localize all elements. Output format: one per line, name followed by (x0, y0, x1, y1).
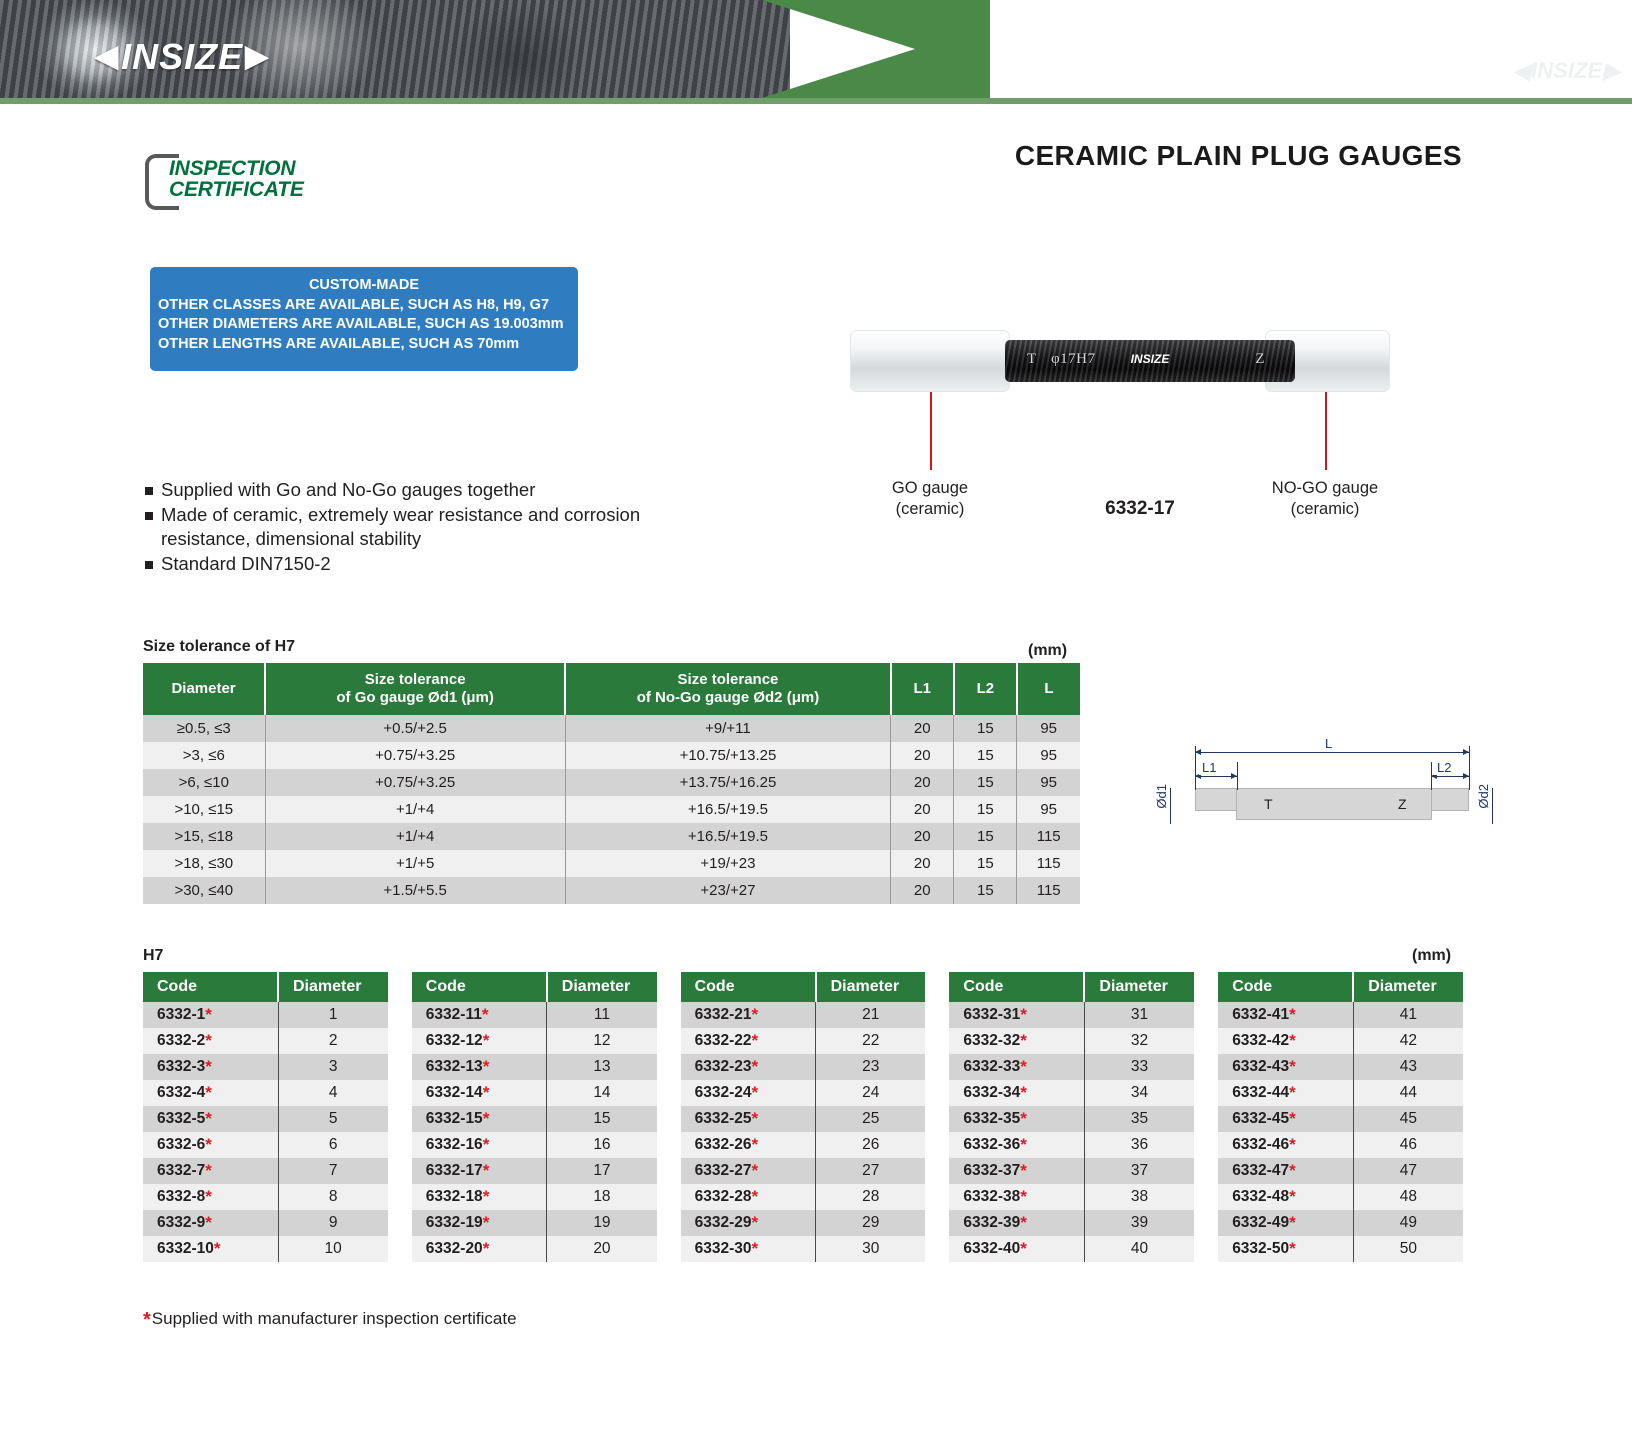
cell-l1: 20 (891, 850, 954, 877)
certificate-star-icon: * (1289, 1187, 1296, 1206)
go-gauge-callout-line1: GO gauge (830, 478, 1030, 499)
cell-code: 6332-46* (1218, 1132, 1353, 1158)
table-row: 6332-18*18 (412, 1184, 657, 1210)
cell-diameter: 38 (1084, 1184, 1194, 1210)
code-text: 6332-39 (963, 1214, 1020, 1231)
table-row: 6332-19*19 (412, 1210, 657, 1236)
certificate-star-icon: * (1020, 1213, 1027, 1232)
certificate-line2: CERTIFICATE (169, 179, 304, 200)
table-row: 6332-29*29 (681, 1210, 926, 1236)
table-row: 6332-16*16 (412, 1132, 657, 1158)
footnote: *Supplied with manufacturer inspection c… (143, 1309, 517, 1329)
cell-diameter: >18, ≤30 (143, 850, 265, 877)
cell-code: 6332-32* (949, 1028, 1084, 1054)
cell-go: +0.75/+3.25 (265, 769, 565, 796)
table-row: 6332-13*13 (412, 1054, 657, 1080)
col-go-line2: of Go gauge Ød1 (μm) (336, 689, 494, 706)
col-code: Code (949, 972, 1084, 1002)
table-row: 6332-40*40 (949, 1236, 1194, 1262)
table-header-row: Code Diameter (143, 972, 388, 1002)
code-table-4: Code Diameter 6332-31*31 6332-32*32 6332… (949, 972, 1194, 1262)
col-nogo-line2: of No-Go gauge Ød2 (μm) (637, 689, 820, 706)
table-row: 6332-28*28 (681, 1184, 926, 1210)
cell-code: 6332-9* (143, 1210, 278, 1236)
cell-nogo: +16.5/+19.5 (565, 796, 891, 823)
code-text: 6332-50 (1232, 1240, 1289, 1257)
cell-l2: 15 (954, 769, 1017, 796)
watermark-wordmark: INSIZE (1531, 58, 1602, 84)
certificate-star-icon: * (751, 1135, 758, 1154)
cell-code: 6332-26* (681, 1132, 816, 1158)
cell-code: 6332-42* (1218, 1028, 1353, 1054)
certificate-star-icon: * (1289, 1213, 1296, 1232)
table-row: 6332-17*17 (412, 1158, 657, 1184)
cell-nogo: +10.75/+13.25 (565, 742, 891, 769)
code-table-unit: (mm) (1412, 947, 1451, 965)
cell-l2: 15 (954, 877, 1017, 904)
cell-code: 6332-40* (949, 1236, 1084, 1262)
cell-code: 6332-49* (1218, 1210, 1353, 1236)
cell-diameter: 14 (547, 1080, 657, 1106)
feature-text: Supplied with Go and No-Go gauges togeth… (161, 478, 665, 503)
code-text: 6332-37 (963, 1162, 1020, 1179)
code-text: 6332-11 (426, 1006, 482, 1023)
cell-l: 95 (1017, 769, 1080, 796)
cell-code: 6332-30* (681, 1236, 816, 1262)
cell-diameter: 4 (278, 1080, 388, 1106)
custom-made-callout: CUSTOM-MADE OTHER CLASSES ARE AVAILABLE,… (150, 267, 578, 371)
code-text: 6332-30 (695, 1240, 752, 1257)
cell-diameter: 23 (816, 1054, 926, 1080)
table-header-row: Code Diameter (1218, 972, 1463, 1002)
dim-arrow-l (1195, 752, 1469, 753)
table-row: 6332-11*11 (412, 1002, 657, 1028)
cell-l1: 20 (891, 823, 954, 850)
code-table-2: Code Diameter 6332-11*11 6332-12*12 6332… (412, 972, 657, 1262)
certificate-star-icon: * (483, 1109, 490, 1128)
cell-diameter: 44 (1353, 1080, 1463, 1106)
header-green-rule (0, 98, 1632, 104)
col-diameter: Diameter (816, 972, 926, 1002)
list-item: Made of ceramic, extremely wear resistan… (145, 503, 665, 552)
code-text: 6332-10 (157, 1240, 214, 1257)
certificate-star-icon: * (1020, 1109, 1027, 1128)
cell-l1: 20 (891, 877, 954, 904)
cell-nogo: +13.75/+16.25 (565, 769, 891, 796)
cell-go: +0.5/+2.5 (265, 715, 565, 742)
code-text: 6332-18 (426, 1188, 483, 1205)
ext-line-d1 (1170, 788, 1171, 824)
certificate-star-icon: * (1289, 1239, 1296, 1258)
cell-code: 6332-44* (1218, 1080, 1353, 1106)
certificate-star-icon: * (205, 1187, 212, 1206)
code-text: 6332-33 (963, 1058, 1020, 1075)
dim-arrow-l2 (1431, 776, 1469, 777)
cell-diameter: 3 (278, 1054, 388, 1080)
code-text: 6332-22 (695, 1032, 752, 1049)
tolerance-table-unit: (mm) (1028, 642, 1067, 660)
cell-diameter: 16 (547, 1132, 657, 1158)
cell-code: 6332-27* (681, 1158, 816, 1184)
cell-diameter: 29 (816, 1210, 926, 1236)
cell-diameter: 26 (816, 1132, 926, 1158)
table-row: 6332-8*8 (143, 1184, 388, 1210)
col-go-line1: Size tolerance (365, 671, 466, 688)
ext-line-l1-right (1237, 762, 1238, 790)
cell-code: 6332-48* (1218, 1184, 1353, 1210)
code-text: 6332-12 (426, 1032, 483, 1049)
table-row: 6332-1*1 (143, 1002, 388, 1028)
go-gauge-callout: GO gauge (ceramic) (830, 478, 1030, 520)
code-text: 6332-8 (157, 1188, 205, 1205)
table-row: 6332-50*50 (1218, 1236, 1463, 1262)
cell-go: +1.5/+5.5 (265, 877, 565, 904)
dimension-diagram: T Z L L1 L2 Ød1 Ød2 (1140, 700, 1560, 830)
cell-diameter: 41 (1353, 1002, 1463, 1028)
certificate-star-icon: * (1289, 1031, 1296, 1050)
cell-diameter: 18 (547, 1184, 657, 1210)
cell-l2: 15 (954, 850, 1017, 877)
code-text: 6332-13 (426, 1058, 483, 1075)
cell-diameter: 1 (278, 1002, 388, 1028)
table-row: 6332-7*7 (143, 1158, 388, 1184)
inspection-certificate-badge: INSPECTION CERTIFICATE (145, 152, 405, 212)
code-text: 6332-36 (963, 1136, 1020, 1153)
table-row: 6332-38*38 (949, 1184, 1194, 1210)
cell-code: 6332-11* (412, 1002, 547, 1028)
gauge-marking-z: Z (1255, 351, 1265, 368)
page-title: CERAMIC PLAIN PLUG GAUGES (1015, 140, 1462, 172)
code-text: 6332-19 (426, 1214, 483, 1231)
code-text: 6332-2 (157, 1032, 205, 1049)
feature-text: Made of ceramic, extremely wear resistan… (161, 503, 665, 552)
table-row: 6332-46*46 (1218, 1132, 1463, 1158)
cell-diameter: 12 (547, 1028, 657, 1054)
certificate-star-icon: * (1289, 1005, 1296, 1024)
cell-go: +1/+4 (265, 796, 565, 823)
cell-diameter: 19 (547, 1210, 657, 1236)
footnote-text: Supplied with manufacturer inspection ce… (152, 1309, 517, 1328)
insize-watermark: ◀INSIZE▶ (1513, 58, 1620, 84)
square-bullet-icon (145, 478, 161, 495)
diagram-go-end (1195, 788, 1237, 811)
certificate-star-icon: * (1289, 1135, 1296, 1154)
code-text: 6332-47 (1232, 1162, 1289, 1179)
cell-l1: 20 (891, 796, 954, 823)
code-text: 6332-6 (157, 1136, 205, 1153)
table-row: 6332-49*49 (1218, 1210, 1463, 1236)
certificate-star-icon: * (205, 1057, 212, 1076)
table-row: 6332-32*32 (949, 1028, 1194, 1054)
certificate-star-icon: * (1020, 1031, 1027, 1050)
certificate-star-icon: * (205, 1083, 212, 1102)
table-row: 6332-27*27 (681, 1158, 926, 1184)
ext-line-right (1469, 746, 1470, 790)
logo-arrow-left-icon: ◀ (95, 42, 119, 72)
cell-diameter: 45 (1353, 1106, 1463, 1132)
diagram-label-z: Z (1398, 796, 1407, 812)
code-text: 6332-34 (963, 1084, 1020, 1101)
code-text: 6332-23 (695, 1058, 752, 1075)
cell-diameter: 5 (278, 1106, 388, 1132)
col-l: L (1017, 663, 1080, 715)
table-row: 6332-12*12 (412, 1028, 657, 1054)
certificate-star-icon: * (483, 1031, 490, 1050)
tolerance-table-body: ≥0.5, ≤3+0.5/+2.5+9/+11201595 >3, ≤6+0.7… (143, 715, 1080, 904)
table-row: 6332-25*25 (681, 1106, 926, 1132)
cell-code: 6332-22* (681, 1028, 816, 1054)
cell-diameter: >15, ≤18 (143, 823, 265, 850)
code-table-1: Code Diameter 6332-1*1 6332-2*2 6332-3*3… (143, 972, 388, 1262)
certificate-star-icon: * (1289, 1057, 1296, 1076)
certificate-label: INSPECTION CERTIFICATE (169, 158, 304, 200)
cell-nogo: +23/+27 (565, 877, 891, 904)
cell-diameter: >3, ≤6 (143, 742, 265, 769)
certificate-star-icon: * (205, 1005, 212, 1024)
certificate-star-icon: * (482, 1005, 489, 1024)
certificate-star-icon: * (751, 1057, 758, 1076)
certificate-star-icon: * (1020, 1187, 1027, 1206)
cell-code: 6332-2* (143, 1028, 278, 1054)
cell-code: 6332-28* (681, 1184, 816, 1210)
table-header-row: Diameter Size tolerance of Go gauge Ød1 … (143, 663, 1080, 715)
col-code: Code (412, 972, 547, 1002)
cell-diameter: 20 (547, 1236, 657, 1262)
gauge-marking-diameter: φ17H7 (1051, 351, 1096, 368)
code-text: 6332-28 (695, 1188, 752, 1205)
code-text: 6332-40 (963, 1240, 1020, 1257)
cell-diameter: 50 (1353, 1236, 1463, 1262)
certificate-star-icon: * (483, 1187, 490, 1206)
certificate-star-icon: * (483, 1161, 490, 1180)
gauge-handle: T φ17H7 INSIZE Z (1005, 340, 1295, 382)
certificate-star-icon: * (483, 1135, 490, 1154)
table-row: 6332-9*9 (143, 1210, 388, 1236)
col-code: Code (681, 972, 816, 1002)
code-text: 6332-15 (426, 1110, 483, 1127)
col-diameter: Diameter (547, 972, 657, 1002)
certificate-star-icon: * (1020, 1057, 1027, 1076)
cell-code: 6332-35* (949, 1106, 1084, 1132)
table-row: 6332-37*37 (949, 1158, 1194, 1184)
cell-diameter: >6, ≤10 (143, 769, 265, 796)
product-code-label: 6332-17 (1050, 498, 1230, 520)
cell-l1: 20 (891, 715, 954, 742)
cell-l2: 15 (954, 796, 1017, 823)
cell-code: 6332-39* (949, 1210, 1084, 1236)
custom-made-title: CUSTOM-MADE (156, 276, 572, 296)
code-text: 6332-16 (426, 1136, 483, 1153)
diagram-label-d1: Ød1 (1154, 784, 1169, 809)
certificate-star-icon: * (205, 1213, 212, 1232)
cell-diameter: 30 (816, 1236, 926, 1262)
cell-code: 6332-3* (143, 1054, 278, 1080)
col-diameter: Diameter (278, 972, 388, 1002)
custom-made-line-3: OTHER LENGTHS ARE AVAILABLE, SUCH AS 70m… (156, 335, 572, 355)
cell-code: 6332-31* (949, 1002, 1084, 1028)
cell-diameter: 2 (278, 1028, 388, 1054)
certificate-star-icon: * (1020, 1005, 1027, 1024)
code-text: 6332-17 (426, 1162, 483, 1179)
nogo-gauge-callout-line1: NO-GO gauge (1225, 478, 1425, 499)
plug-gauge-photo: T φ17H7 INSIZE Z (850, 330, 1390, 392)
cell-code: 6332-15* (412, 1106, 547, 1132)
code-text: 6332-43 (1232, 1058, 1289, 1075)
cell-code: 6332-41* (1218, 1002, 1353, 1028)
table-row: 6332-48*48 (1218, 1184, 1463, 1210)
certificate-star-icon: * (751, 1005, 758, 1024)
table-header-row: Code Diameter (949, 972, 1194, 1002)
cell-diameter: 15 (547, 1106, 657, 1132)
col-l2: L2 (954, 663, 1017, 715)
cell-diameter: 47 (1353, 1158, 1463, 1184)
table-row: >10, ≤15+1/+4+16.5/+19.5201595 (143, 796, 1080, 823)
cell-code: 6332-50* (1218, 1236, 1353, 1262)
cell-diameter: 27 (816, 1158, 926, 1184)
cell-code: 6332-25* (681, 1106, 816, 1132)
table-row: 6332-33*33 (949, 1054, 1194, 1080)
cell-l1: 20 (891, 769, 954, 796)
size-tolerance-table: Diameter Size tolerance of Go gauge Ød1 … (143, 663, 1080, 904)
cell-diameter: 31 (1084, 1002, 1194, 1028)
certificate-star-icon: * (751, 1161, 758, 1180)
table-row: >6, ≤10+0.75/+3.25+13.75/+16.25201595 (143, 769, 1080, 796)
certificate-star-icon: * (1020, 1239, 1027, 1258)
list-item: Supplied with Go and No-Go gauges togeth… (145, 478, 665, 503)
cell-diameter: 43 (1353, 1054, 1463, 1080)
code-text: 6332-7 (157, 1162, 205, 1179)
cell-diameter: 25 (816, 1106, 926, 1132)
code-text: 6332-35 (963, 1110, 1020, 1127)
ext-line-d2 (1492, 788, 1493, 824)
cell-code: 6332-16* (412, 1132, 547, 1158)
nogo-gauge-callout: NO-GO gauge (ceramic) (1225, 478, 1425, 520)
certificate-star-icon: * (1289, 1083, 1296, 1102)
code-text: 6332-1 (157, 1006, 205, 1023)
dim-arrow-l1 (1195, 776, 1237, 777)
code-text: 6332-45 (1232, 1110, 1289, 1127)
cell-l: 95 (1017, 796, 1080, 823)
code-table-label: H7 (143, 947, 163, 965)
certificate-star-icon: * (483, 1239, 490, 1258)
cell-code: 6332-45* (1218, 1106, 1353, 1132)
table-row: 6332-41*41 (1218, 1002, 1463, 1028)
certificate-star-icon: * (143, 1309, 151, 1331)
certificate-star-icon: * (205, 1135, 212, 1154)
cell-diameter: 9 (278, 1210, 388, 1236)
cell-code: 6332-7* (143, 1158, 278, 1184)
cell-code: 6332-33* (949, 1054, 1084, 1080)
cell-code: 6332-29* (681, 1210, 816, 1236)
certificate-star-icon: * (751, 1031, 758, 1050)
table-row: 6332-39*39 (949, 1210, 1194, 1236)
table-row: 6332-47*47 (1218, 1158, 1463, 1184)
cell-diameter: 13 (547, 1054, 657, 1080)
table-row: >3, ≤6+0.75/+3.25+10.75/+13.25201595 (143, 742, 1080, 769)
code-text: 6332-27 (695, 1162, 752, 1179)
nogo-gauge-leader-line (1325, 392, 1327, 470)
cell-code: 6332-18* (412, 1184, 547, 1210)
code-table-5: Code Diameter 6332-41*41 6332-42*42 6332… (1218, 972, 1463, 1262)
table-row: 6332-22*22 (681, 1028, 926, 1054)
cell-diameter: 21 (816, 1002, 926, 1028)
gauge-marking-brand: INSIZE (1131, 352, 1170, 366)
cell-nogo: +19/+23 (565, 850, 891, 877)
certificate-star-icon: * (483, 1213, 490, 1232)
diagram-label-d2: Ød2 (1476, 784, 1491, 809)
certificate-star-icon: * (751, 1109, 758, 1128)
table-row: 6332-14*14 (412, 1080, 657, 1106)
code-tables-group: Code Diameter 6332-1*1 6332-2*2 6332-3*3… (143, 972, 1463, 1262)
nogo-gauge-callout-line2: (ceramic) (1225, 499, 1425, 520)
code-text: 6332-31 (963, 1006, 1020, 1023)
code-text: 6332-20 (426, 1240, 483, 1257)
custom-made-line-1: OTHER CLASSES ARE AVAILABLE, SUCH AS H8,… (156, 296, 572, 316)
code-text: 6332-14 (426, 1084, 483, 1101)
table-row: 6332-6*6 (143, 1132, 388, 1158)
watermark-arrow-left-icon: ◀ (1513, 58, 1530, 84)
col-diameter: Diameter (1084, 972, 1194, 1002)
table-row: 6332-45*45 (1218, 1106, 1463, 1132)
go-gauge-ceramic-tip (850, 330, 1010, 392)
insize-logo: ◀INSIZE▶ (95, 36, 269, 78)
col-go-tolerance: Size tolerance of Go gauge Ød1 (μm) (265, 663, 565, 715)
cell-diameter: 32 (1084, 1028, 1194, 1054)
cell-code: 6332-34* (949, 1080, 1084, 1106)
logo-arrow-right-icon: ▶ (245, 42, 269, 72)
cell-diameter: >30, ≤40 (143, 877, 265, 904)
table-row: 6332-36*36 (949, 1132, 1194, 1158)
table-row: 6332-21*21 (681, 1002, 926, 1028)
cell-diameter: 46 (1353, 1132, 1463, 1158)
code-text: 6332-42 (1232, 1032, 1289, 1049)
cell-diameter: 36 (1084, 1132, 1194, 1158)
col-nogo-tolerance: Size tolerance of No-Go gauge Ød2 (μm) (565, 663, 891, 715)
code-text: 6332-32 (963, 1032, 1020, 1049)
code-text: 6332-5 (157, 1110, 205, 1127)
cell-code: 6332-38* (949, 1184, 1084, 1210)
feature-list: Supplied with Go and No-Go gauges togeth… (145, 478, 665, 576)
code-text: 6332-24 (695, 1084, 752, 1101)
table-row: >18, ≤30+1/+5+19/+232015115 (143, 850, 1080, 877)
certificate-star-icon: * (1289, 1161, 1296, 1180)
cell-diameter: 34 (1084, 1080, 1194, 1106)
cell-l: 115 (1017, 823, 1080, 850)
certificate-star-icon: * (214, 1239, 221, 1258)
code-text: 6332-9 (157, 1214, 205, 1231)
product-photo-block: T φ17H7 INSIZE Z GO gauge (ceramic) NO-G… (820, 300, 1500, 540)
diagram-label-t: T (1264, 796, 1273, 812)
col-diameter: Diameter (1353, 972, 1463, 1002)
cell-l: 95 (1017, 715, 1080, 742)
cell-diameter: 17 (547, 1158, 657, 1184)
logo-wordmark: INSIZE (121, 36, 243, 78)
table-row: 6332-24*24 (681, 1080, 926, 1106)
table-row: >30, ≤40+1.5/+5.5+23/+272015115 (143, 877, 1080, 904)
col-l1: L1 (891, 663, 954, 715)
cell-l2: 15 (954, 742, 1017, 769)
col-code: Code (143, 972, 278, 1002)
certificate-star-icon: * (751, 1083, 758, 1102)
cell-diameter: 11 (547, 1002, 657, 1028)
cell-diameter: 49 (1353, 1210, 1463, 1236)
certificate-star-icon: * (751, 1187, 758, 1206)
cell-go: +1/+4 (265, 823, 565, 850)
code-text: 6332-38 (963, 1188, 1020, 1205)
cell-diameter: 6 (278, 1132, 388, 1158)
certificate-star-icon: * (1020, 1135, 1027, 1154)
cell-go: +1/+5 (265, 850, 565, 877)
